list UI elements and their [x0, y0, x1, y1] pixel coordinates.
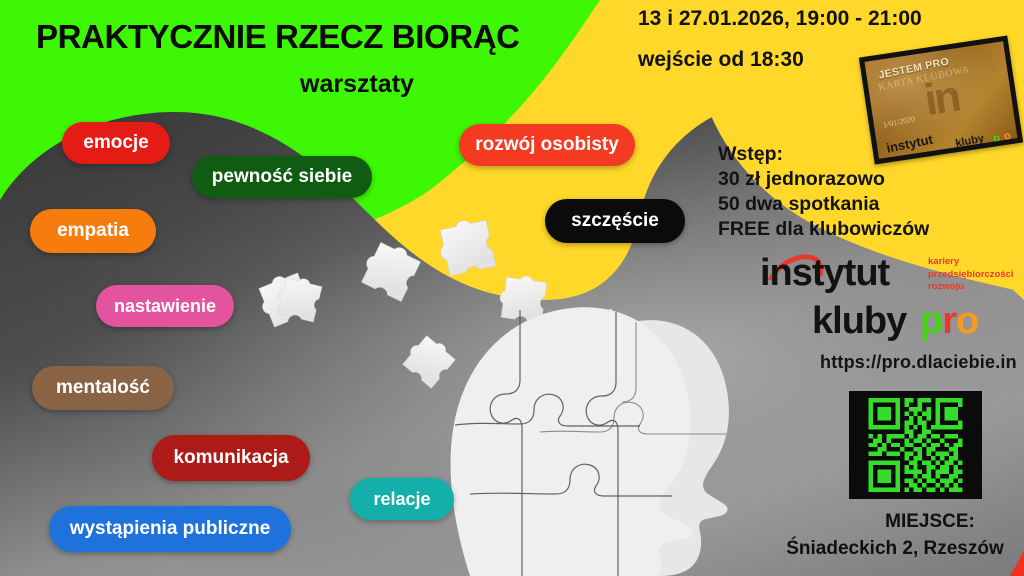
club-card: JESTEM PRO KARTA KLUBOWA in 1/01/2020 in… [859, 36, 1023, 165]
logo-pro-r: r [942, 300, 956, 342]
venue-label: MIEJSCE: [770, 508, 1020, 535]
topic-pill: relacje [350, 478, 454, 520]
logo-pro: pro [920, 300, 978, 343]
event-entry-time: wejście od 18:30 [638, 48, 804, 72]
club-card-brand-instytut: instytut [885, 132, 934, 156]
topic-pill: empatia [30, 209, 156, 253]
club-card-brand-kluby: kluby [954, 132, 985, 149]
logo-pro-o: o [956, 300, 978, 342]
event-datetime: 13 i 27.01.2026, 19:00 - 21:00 [638, 7, 922, 31]
qr-code-image [856, 398, 975, 492]
venue-block: MIEJSCE: Śniadeckich 2, Rzeszów [770, 508, 1020, 562]
page-subtitle: warsztaty [300, 70, 414, 99]
logo-kluby: kluby [812, 300, 906, 343]
topic-pill: pewność siebie [192, 156, 372, 198]
club-card-date: 1/01/2020 [882, 114, 916, 129]
venue-address: Śniadeckich 2, Rzeszów [786, 538, 1004, 559]
brand-logo: instytut kariery przedsiębiorczości rozw… [760, 252, 1010, 362]
club-card-pro-o: o [1003, 130, 1012, 143]
topic-pill: komunikacja [152, 435, 310, 481]
logo-pro-p: p [920, 300, 942, 342]
page-title: PRAKTYCZNIE RZECZ BIORĄC [36, 18, 520, 56]
qr-code[interactable] [849, 391, 982, 499]
topic-pill: szczęście [545, 199, 685, 243]
club-card-monogram: in [922, 75, 961, 123]
logo-tagline: kariery przedsiębiorczości rozwoju [928, 256, 1014, 294]
club-card-face: JESTEM PRO KARTA KLUBOWA in 1/01/2020 in… [865, 41, 1018, 159]
website-url[interactable]: https://pro.dlaciebie.in [820, 352, 1017, 373]
topic-pill: wystąpienia publiczne [49, 506, 291, 552]
topic-pill: mentalość [32, 366, 174, 410]
topic-pill: rozwój osobisty [459, 124, 635, 166]
topic-pill: emocje [62, 122, 170, 164]
logo-instytut: instytut [760, 252, 889, 295]
club-card-brand-pro: pro [992, 130, 1012, 145]
poster-root: PRAKTYCZNIE RZECZ BIORĄC warsztaty 13 i … [0, 0, 1024, 576]
topic-pill: nastawienie [96, 285, 234, 327]
